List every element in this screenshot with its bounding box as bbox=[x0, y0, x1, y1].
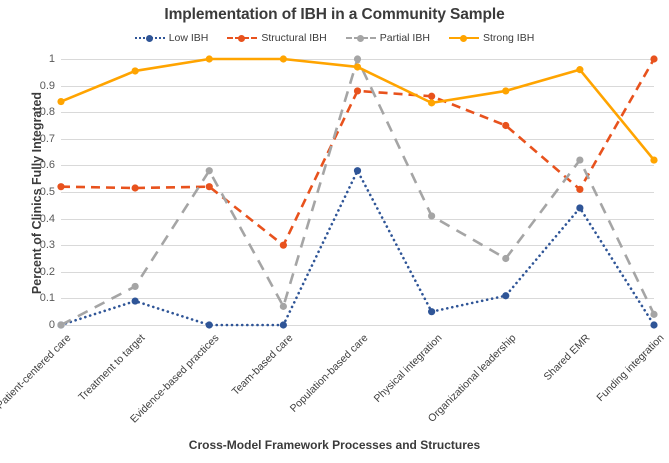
data-point bbox=[206, 55, 213, 62]
legend-swatch-icon bbox=[449, 33, 479, 43]
data-point bbox=[428, 212, 435, 219]
legend-item[interactable]: Strong IBH bbox=[449, 33, 534, 44]
x-axis-tick-label-text: Population-based care bbox=[287, 332, 370, 415]
data-point bbox=[502, 292, 509, 299]
data-point bbox=[650, 55, 657, 62]
series-line bbox=[61, 171, 654, 325]
data-point bbox=[354, 167, 361, 174]
data-point bbox=[132, 184, 139, 191]
x-axis-tick-label-text: Organizational leadership bbox=[426, 332, 519, 425]
data-point bbox=[57, 98, 64, 105]
series-line bbox=[61, 59, 654, 245]
data-point bbox=[650, 311, 657, 318]
data-point bbox=[576, 66, 583, 73]
data-point bbox=[576, 204, 583, 211]
y-axis-title: Percent of Clinics Fully Integrated bbox=[30, 68, 44, 318]
data-point bbox=[502, 255, 509, 262]
legend-swatch-icon bbox=[346, 33, 376, 43]
y-axis-tick-label: 1 bbox=[15, 53, 55, 65]
legend-item[interactable]: Partial IBH bbox=[346, 33, 430, 44]
data-point bbox=[576, 186, 583, 193]
data-point bbox=[354, 63, 361, 70]
x-axis-tick-label-text: Shared EMR bbox=[541, 332, 592, 383]
y-axis-tick-label: 0 bbox=[15, 319, 55, 331]
chart-container: Implementation of IBH in a Community Sam… bbox=[0, 0, 669, 463]
data-point bbox=[280, 303, 287, 310]
series-line bbox=[61, 59, 654, 160]
chart-legend: Low IBHStructural IBHPartial IBHStrong I… bbox=[0, 33, 669, 44]
legend-label: Partial IBH bbox=[380, 33, 430, 44]
data-point bbox=[502, 122, 509, 129]
x-axis-tick-label-text: Team-based care bbox=[230, 332, 296, 398]
data-point bbox=[650, 156, 657, 163]
data-point bbox=[57, 183, 64, 190]
x-axis-tick-label-text: Patient-centered care bbox=[0, 332, 73, 411]
data-point bbox=[132, 297, 139, 304]
data-point bbox=[280, 242, 287, 249]
data-point bbox=[502, 87, 509, 94]
legend-label: Strong IBH bbox=[483, 33, 534, 44]
data-point bbox=[354, 87, 361, 94]
data-point bbox=[428, 93, 435, 100]
data-point bbox=[354, 55, 361, 62]
x-axis-tick-label-text: Funding integration bbox=[594, 332, 666, 404]
data-point bbox=[280, 55, 287, 62]
legend-label: Low IBH bbox=[169, 33, 209, 44]
x-axis-tick-label-text: Treatment to target bbox=[76, 332, 147, 403]
data-point bbox=[206, 167, 213, 174]
data-point bbox=[206, 183, 213, 190]
chart-title: Implementation of IBH in a Community Sam… bbox=[0, 6, 669, 24]
x-axis-tick-labels: Patient-centered careTreatment to target… bbox=[61, 326, 654, 431]
data-point bbox=[132, 283, 139, 290]
legend-swatch-icon bbox=[227, 33, 257, 43]
legend-item[interactable]: Structural IBH bbox=[227, 33, 326, 44]
legend-item[interactable]: Low IBH bbox=[135, 33, 209, 44]
x-axis-title: Cross-Model Framework Processes and Stru… bbox=[0, 438, 669, 452]
data-point bbox=[428, 99, 435, 106]
legend-label: Structural IBH bbox=[261, 33, 326, 44]
x-axis-tick-label-text: Evidence-based practices bbox=[128, 332, 222, 426]
x-axis-tick-label-text: Physical integration bbox=[371, 332, 444, 405]
data-point bbox=[132, 67, 139, 74]
data-point bbox=[428, 308, 435, 315]
data-point bbox=[576, 156, 583, 163]
legend-swatch-icon bbox=[135, 33, 165, 43]
